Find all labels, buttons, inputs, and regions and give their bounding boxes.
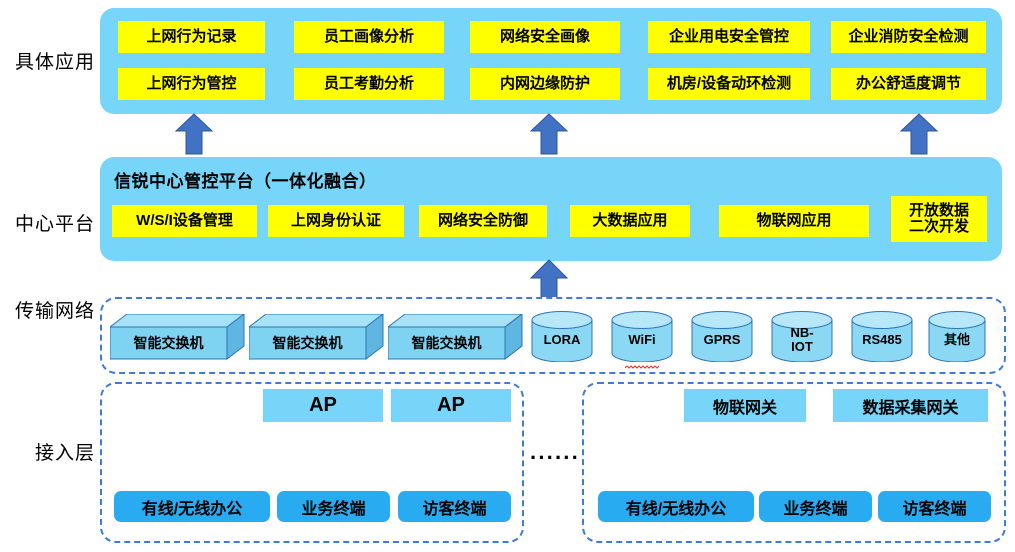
protocol-cylinder-gprs[interactable]: GPRS bbox=[691, 311, 753, 362]
protocol-cylinder-nbiot[interactable]: NB- IOT bbox=[771, 311, 833, 362]
protocol-label-nbiot: NB- IOT bbox=[771, 321, 833, 359]
nbiot-line-2: IOT bbox=[791, 340, 813, 354]
protocol-cylinder-rs485[interactable]: RS485 bbox=[851, 311, 913, 362]
switch-box-3[interactable]: 智能交换机 bbox=[388, 314, 523, 360]
access-terminal-wired-wireless-office-left[interactable]: 有线/无线办公 bbox=[114, 491, 270, 522]
architecture-diagram: 具体应用 中心平台 传输网络 接入层 上网行为记录 员工画像分析 网络安全画像 … bbox=[0, 0, 1015, 552]
switch-box-1[interactable]: 智能交换机 bbox=[110, 314, 245, 360]
switch-box-2[interactable]: 智能交换机 bbox=[249, 314, 384, 360]
access-terminal-guest-left[interactable]: 访客终端 bbox=[398, 491, 511, 522]
protocol-cylinder-lora[interactable]: LORA bbox=[531, 311, 593, 362]
row-label-transport: 传输网络 bbox=[0, 296, 95, 323]
switch-label-1: 智能交换机 bbox=[110, 327, 227, 359]
access-device-ap-1[interactable]: AP bbox=[263, 389, 383, 422]
arrow-up-icon-app-2 bbox=[530, 113, 568, 155]
platform-chip-device-management[interactable]: W/S/I设备管理 bbox=[112, 205, 257, 237]
platform-chip-big-data-application[interactable]: 大数据应用 bbox=[570, 205, 690, 237]
open-data-line-2: 二次开发 bbox=[909, 219, 969, 235]
app-chip-enterprise-fire-safety-detection[interactable]: 企业消防安全检测 bbox=[831, 21, 986, 53]
access-device-data-collection-gateway[interactable]: 数据采集网关 bbox=[833, 389, 988, 422]
spellcheck-squiggle-icon bbox=[625, 365, 659, 369]
app-chip-employee-attendance-analysis[interactable]: 员工考勤分析 bbox=[294, 68, 444, 100]
arrow-up-icon-app-1 bbox=[175, 113, 213, 155]
protocol-label-other: 其他 bbox=[928, 321, 986, 359]
access-terminal-business-right[interactable]: 业务终端 bbox=[759, 491, 872, 522]
nbiot-line-1: NB- bbox=[790, 326, 813, 340]
switch-label-3: 智能交换机 bbox=[388, 327, 505, 359]
platform-title: 信锐中心管控平台（一体化融合） bbox=[114, 167, 377, 192]
app-chip-online-behavior-record[interactable]: 上网行为记录 bbox=[118, 21, 265, 53]
access-groups-ellipsis: ······ bbox=[530, 447, 580, 469]
row-label-platform: 中心平台 bbox=[0, 209, 95, 236]
access-terminal-wired-wireless-office-right[interactable]: 有线/无线办公 bbox=[598, 491, 754, 522]
switch-label-2: 智能交换机 bbox=[249, 327, 366, 359]
app-chip-employee-profile-analysis[interactable]: 员工画像分析 bbox=[294, 21, 444, 53]
open-data-line-1: 开放数据 bbox=[909, 203, 969, 219]
access-device-ap-2[interactable]: AP bbox=[391, 389, 511, 422]
row-label-applications: 具体应用 bbox=[0, 47, 95, 74]
platform-chip-open-data-secondary-development[interactable]: 开放数据 二次开发 bbox=[891, 196, 987, 242]
protocol-label-wifi: WiFi bbox=[611, 321, 673, 359]
platform-chip-iot-application[interactable]: 物联网应用 bbox=[719, 205, 869, 237]
access-terminal-business-left[interactable]: 业务终端 bbox=[277, 491, 390, 522]
app-chip-enterprise-power-safety-control[interactable]: 企业用电安全管控 bbox=[648, 21, 810, 53]
platform-chip-network-security-defense[interactable]: 网络安全防御 bbox=[419, 205, 547, 237]
row-label-access: 接入层 bbox=[0, 438, 95, 465]
protocol-label-gprs: GPRS bbox=[691, 321, 753, 359]
app-chip-office-comfort-adjustment[interactable]: 办公舒适度调节 bbox=[831, 68, 986, 100]
protocol-cylinder-wifi[interactable]: WiFi bbox=[611, 311, 673, 362]
protocol-label-lora: LORA bbox=[531, 321, 593, 359]
app-chip-datacenter-environment-detection[interactable]: 机房/设备动环检测 bbox=[648, 68, 810, 100]
access-terminal-guest-right[interactable]: 访客终端 bbox=[878, 491, 991, 522]
protocol-label-rs485: RS485 bbox=[851, 321, 913, 359]
app-chip-online-behavior-control[interactable]: 上网行为管控 bbox=[118, 68, 265, 100]
app-chip-intranet-edge-protection[interactable]: 内网边缘防护 bbox=[470, 68, 620, 100]
access-device-iot-gateway[interactable]: 物联网关 bbox=[684, 389, 806, 422]
app-chip-network-security-profile[interactable]: 网络安全画像 bbox=[470, 21, 620, 53]
protocol-cylinder-other[interactable]: 其他 bbox=[928, 311, 986, 362]
platform-chip-identity-authentication[interactable]: 上网身份认证 bbox=[268, 205, 404, 237]
arrow-up-icon-app-3 bbox=[900, 113, 938, 155]
